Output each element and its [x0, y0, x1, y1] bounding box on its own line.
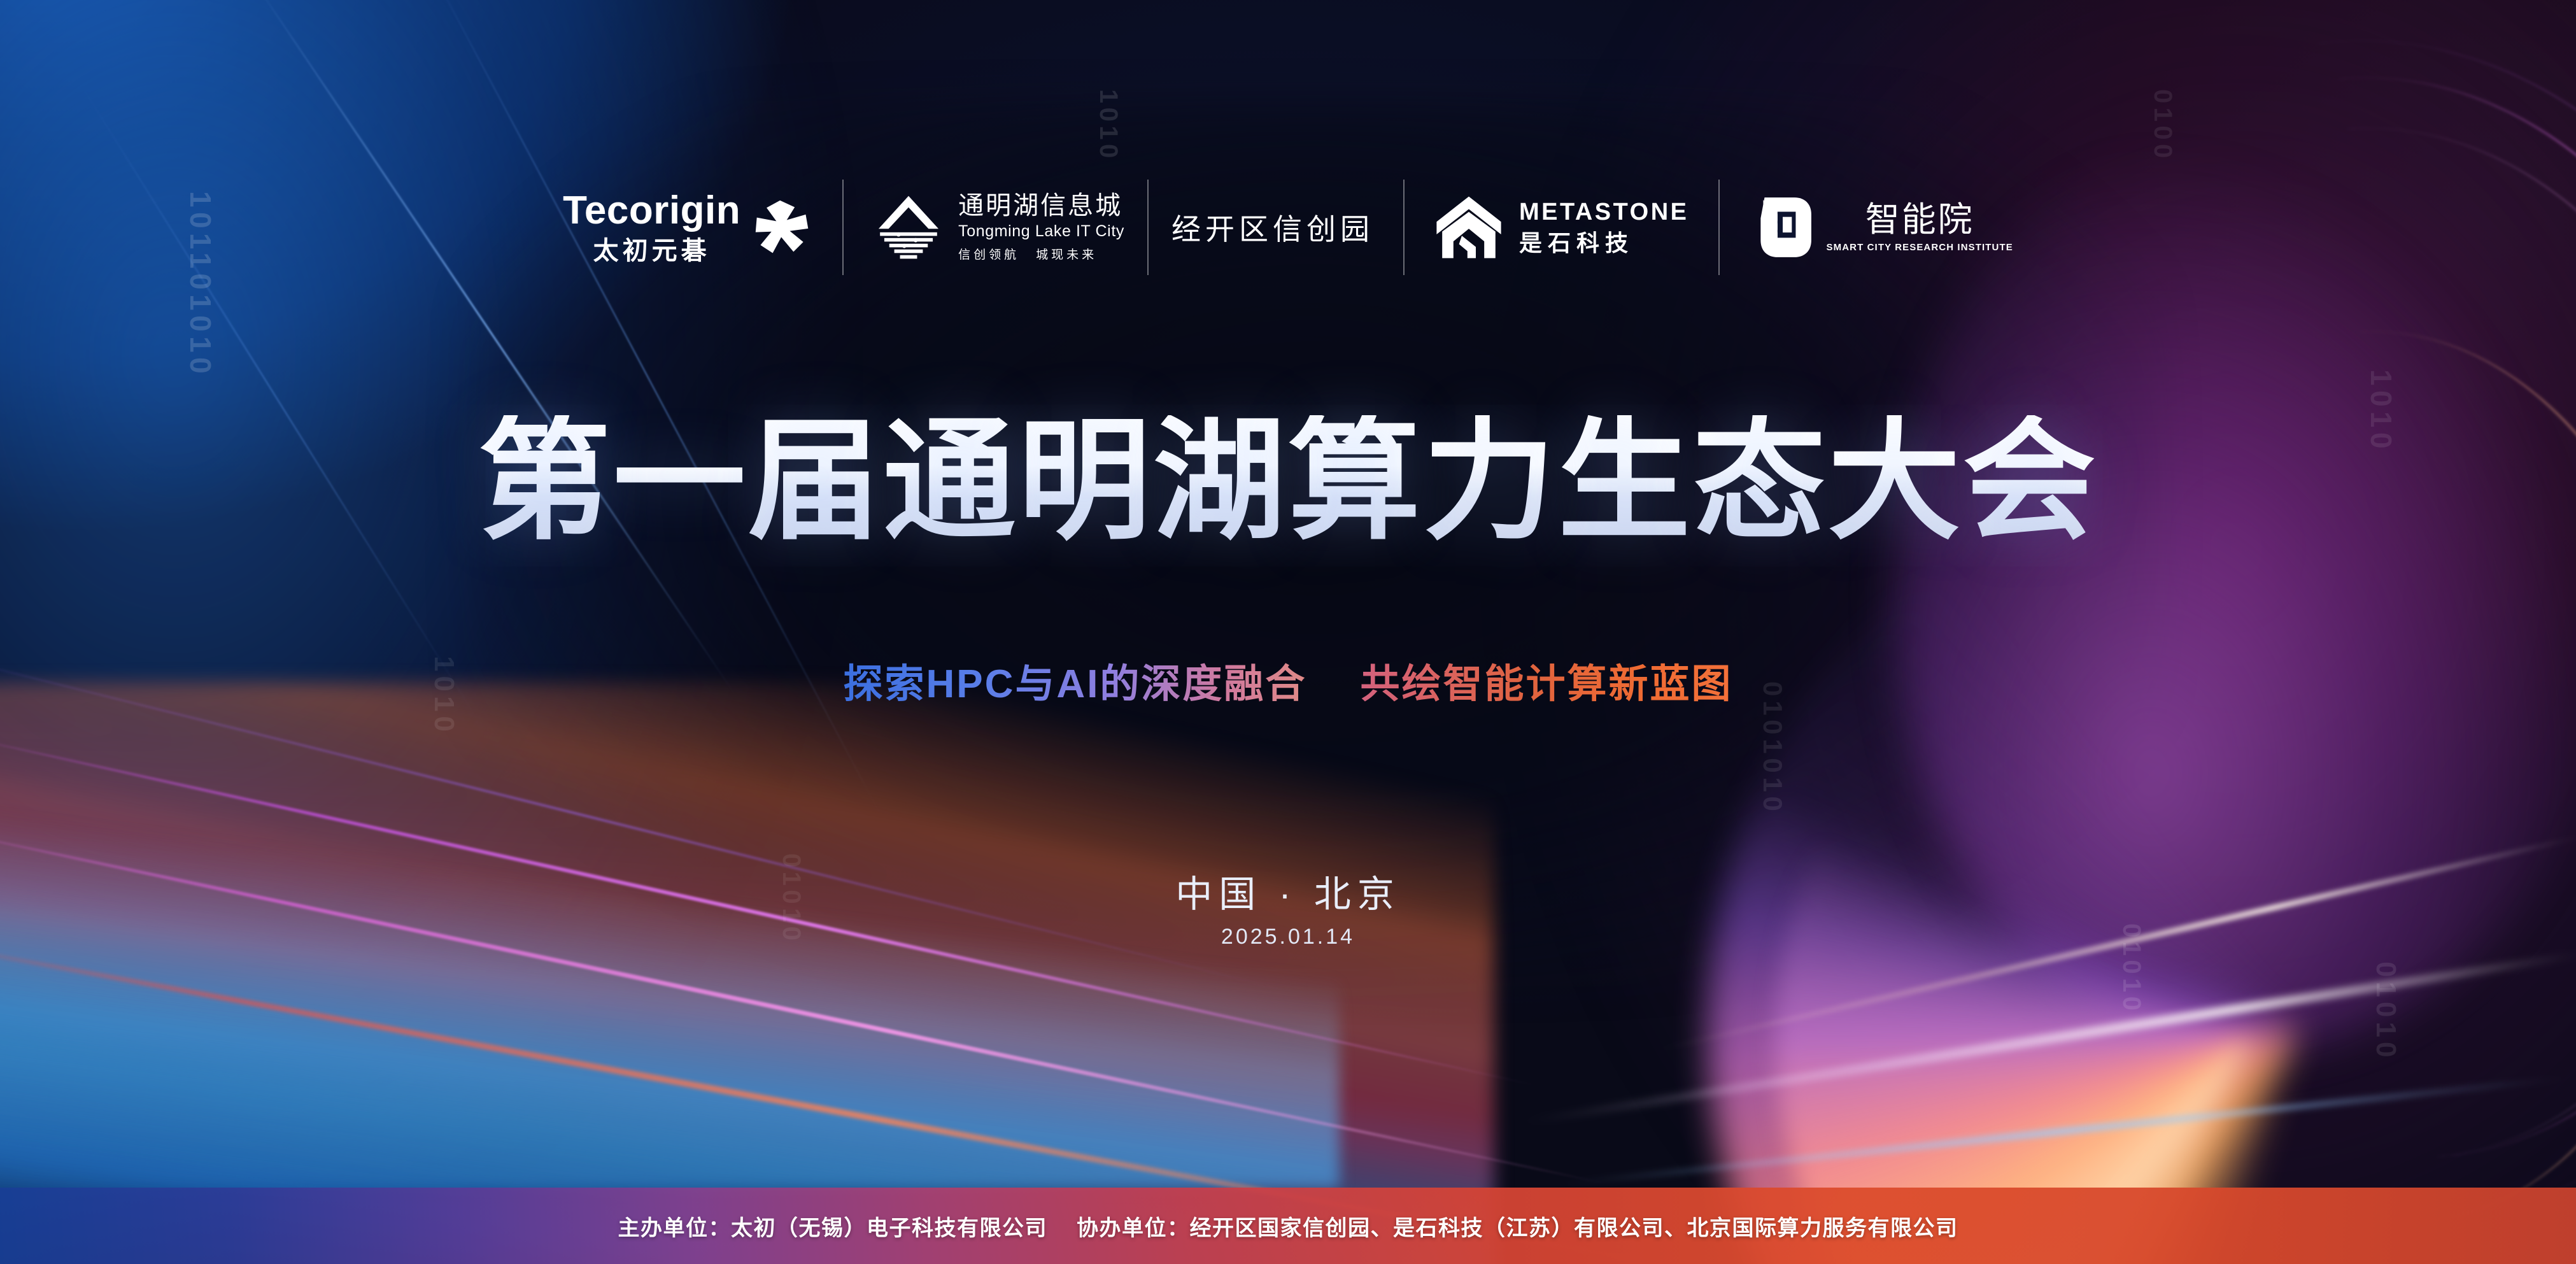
logo-tongming-lake[interactable]: 通明湖信息城 Tongming Lake IT City 信创领航 城现未来 经…	[844, 180, 1403, 275]
smart-city-cn-label: 智能院	[1865, 202, 1974, 237]
sponsor-logo-bar: Tecorigin 太初元碁	[0, 180, 2576, 275]
event-location: 中国 · 北京	[0, 864, 2576, 918]
event-title: 第一届通明湖算力生态大会	[0, 415, 2576, 548]
tongming-slogan-left: 信创领航	[958, 245, 1019, 262]
logo-tecorigin[interactable]: Tecorigin 太初元碁	[534, 191, 842, 264]
tongming-slogan-right: 城现未来	[1036, 245, 1097, 262]
smart-city-mark-icon	[1749, 195, 1814, 260]
tecorigin-mark-icon	[752, 197, 813, 258]
tecorigin-cn-label: 太初元碁	[593, 238, 711, 264]
tongming-cn-label: 通明湖信息城	[958, 192, 1124, 219]
logo-smart-city-research-institute[interactable]: 智能院 SMART CITY RESEARCH INSTITUTE	[1720, 195, 2042, 260]
tongming-lake-mark-icon	[873, 192, 944, 263]
conference-banner: 101101010 1010 1010 01010 0101010 0100 1…	[0, 0, 2576, 1264]
binary-decor-8: 01010	[2370, 962, 2402, 1062]
metastone-mark-icon	[1434, 192, 1504, 262]
tecorigin-en-label: Tecorigin	[563, 191, 740, 231]
logo-metastone[interactable]: METASTONE 是石科技	[1405, 192, 1718, 262]
event-subtitle: 探索HPC与AI的深度融合 共绘智能计算新蓝图	[0, 651, 2576, 709]
footer-cohost-label: 协办单位：经开区国家信创园、是石科技（江苏）有限公司、北京国际算力服务有限公司	[1077, 1211, 1958, 1242]
tongming-en-label: Tongming Lake IT City	[958, 222, 1124, 241]
binary-decor-6: 0100	[2148, 89, 2177, 162]
logo-inner-divider	[1147, 180, 1149, 275]
event-date: 2025.01.14	[0, 925, 2576, 949]
smart-city-en-label: SMART CITY RESEARCH INSTITUTE	[1827, 242, 2013, 253]
metastone-cn-label: 是石科技	[1519, 232, 1689, 255]
subtitle-left: 探索HPC与AI的深度融合	[844, 651, 1307, 709]
subtitle-right: 共绘智能计算新蓝图	[1360, 651, 1732, 709]
partner-park-label: 经开区信创园	[1171, 206, 1374, 248]
footer-host-label: 主办单位：太初（无锡）电子科技有限公司	[618, 1211, 1048, 1242]
metastone-en-label: METASTONE	[1519, 200, 1689, 224]
binary-decor-2: 1010	[1094, 89, 1122, 162]
footer-organizer-bar: 主办单位：太初（无锡）电子科技有限公司 协办单位：经开区国家信创园、是石科技（江…	[0, 1188, 2576, 1264]
